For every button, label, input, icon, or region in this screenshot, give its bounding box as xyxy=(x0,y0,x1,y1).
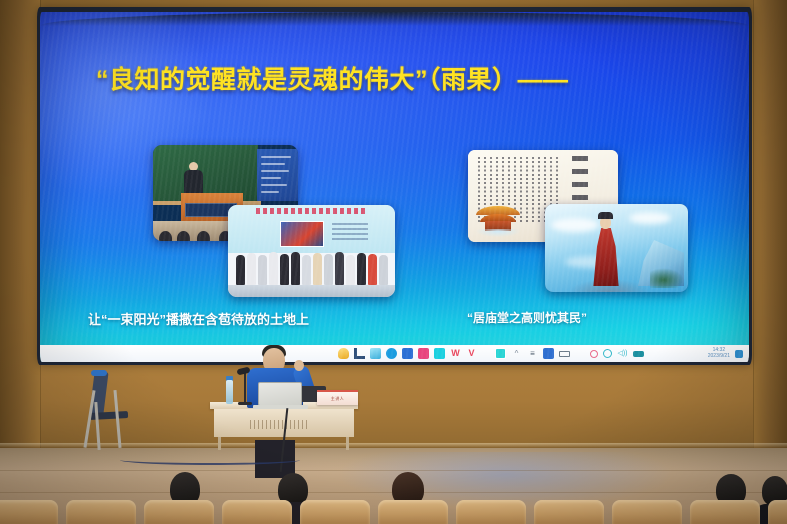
group-photo-ground xyxy=(228,285,395,297)
classroom-projection xyxy=(257,149,298,201)
lecture-hall-scene: “良知的觉醒就是灵魂的伟大”（雨果）—— xyxy=(0,0,787,524)
taskbar-system-tray[interactable]: 14:32 2023/9/21 xyxy=(708,345,743,362)
microphone-stand xyxy=(244,372,246,404)
table-vent-grille xyxy=(250,420,310,429)
seat xyxy=(690,500,760,524)
recorder-icon[interactable] xyxy=(633,351,644,357)
seat xyxy=(378,500,448,524)
taskbar-separator xyxy=(575,348,585,359)
presenter-hand xyxy=(294,360,304,371)
keyboard-icon[interactable] xyxy=(559,351,570,357)
group-photo-slide-text xyxy=(332,223,368,241)
taskbar-icon-group[interactable]: W V ^ ≡ ◁)) xyxy=(338,345,644,362)
taskbar-clock[interactable]: 14:32 2023/9/21 xyxy=(708,348,730,359)
group-photo-people xyxy=(228,245,395,289)
scholar-hat xyxy=(598,212,613,219)
water-bottle xyxy=(226,380,233,404)
presenter-laptop-base xyxy=(253,405,308,409)
ppt-active-icon[interactable] xyxy=(495,348,506,359)
notes-icon[interactable] xyxy=(370,348,381,359)
folding-chair xyxy=(72,372,130,450)
seat xyxy=(534,500,604,524)
slide-title: “良知的觉醒就是灵魂的伟大”（雨果）—— xyxy=(96,60,696,96)
messaging-icon[interactable] xyxy=(418,348,429,359)
windows-taskbar[interactable]: W V ^ ≡ ◁)) 14:32 2 xyxy=(40,345,749,362)
seat xyxy=(456,500,526,524)
pavilion-illustration xyxy=(476,202,520,236)
calligraphy-title-column xyxy=(572,156,588,210)
wechat-work-icon[interactable]: W xyxy=(450,348,461,359)
screen-top-edge xyxy=(40,12,749,26)
presenter-nameplate: 主讲人 xyxy=(317,390,358,405)
browser-icon[interactable] xyxy=(386,348,397,359)
share-icon[interactable] xyxy=(590,350,598,358)
network-icon[interactable]: ≡ xyxy=(527,348,538,359)
wall-panel-right xyxy=(753,0,787,455)
microphone-base xyxy=(238,402,252,405)
clock-icon[interactable] xyxy=(603,349,612,358)
projected-slide: “良知的觉醒就是灵魂的伟大”（雨果）—— xyxy=(40,12,749,362)
group-class-photo xyxy=(228,205,395,297)
seat xyxy=(66,500,136,524)
seat xyxy=(768,500,787,524)
seat xyxy=(0,500,58,524)
slide-caption-left: 让“一束阳光”播撒在含苞待放的土地上 xyxy=(88,309,309,328)
notification-icon[interactable] xyxy=(735,350,743,358)
taskbar-separator xyxy=(482,348,490,359)
group-photo-slide xyxy=(280,221,324,247)
wall-panel-left xyxy=(0,0,40,455)
camera-icon[interactable] xyxy=(402,348,413,359)
seat-row xyxy=(0,498,787,524)
seat xyxy=(612,500,682,524)
audience-foreground xyxy=(0,458,787,524)
chair-back-cap xyxy=(91,370,107,376)
projection-screen: “良知的觉醒就是灵魂的伟大”（雨果）—— xyxy=(37,7,752,365)
gallery-icon[interactable] xyxy=(434,348,445,359)
scholar-painting xyxy=(545,204,688,292)
wechat-icon[interactable]: V xyxy=(466,348,477,359)
slide-caption-right: “居庙堂之高则忧其民” xyxy=(467,309,587,326)
input-method-icon[interactable] xyxy=(543,348,554,359)
group-photo-banner xyxy=(256,208,366,214)
folder-icon[interactable] xyxy=(354,348,365,359)
wall-seam xyxy=(753,0,754,455)
seat xyxy=(300,500,370,524)
chevron-up-icon[interactable]: ^ xyxy=(511,348,522,359)
volume-icon[interactable]: ◁)) xyxy=(617,348,628,359)
seat xyxy=(144,500,214,524)
painting-pine-tree xyxy=(650,268,684,288)
seat xyxy=(222,500,292,524)
wps-writer-icon[interactable] xyxy=(338,348,349,359)
presenter-laptop-screen xyxy=(258,382,302,406)
